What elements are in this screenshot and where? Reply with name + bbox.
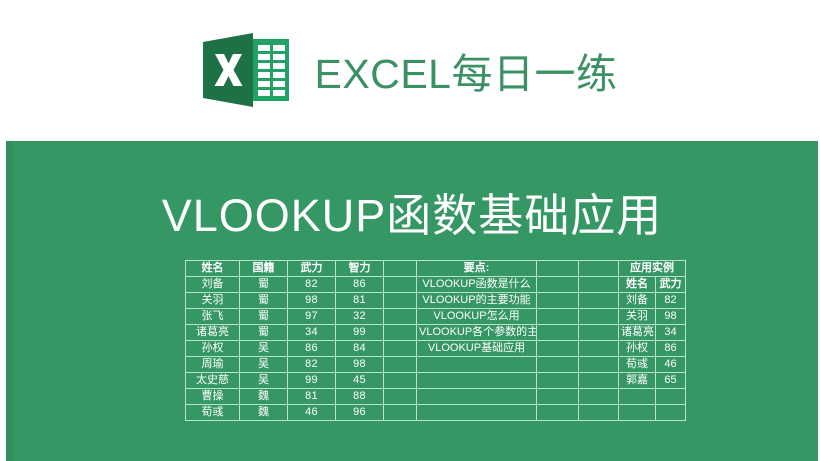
cell-nation: 魏 xyxy=(240,389,288,405)
spacer-cell xyxy=(384,309,417,325)
spacer-cell xyxy=(384,405,417,421)
excel-logo-icon xyxy=(203,33,289,107)
cell-nation: 魏 xyxy=(240,405,288,421)
right-cell-power: 46 xyxy=(656,357,686,373)
blank-cell xyxy=(537,261,579,277)
cell-name: 孙权 xyxy=(186,341,240,357)
content-panel: VLOOKUP函数基础应用 姓名 国籍 武力 智力 xyxy=(6,141,818,461)
slide-header: EXCEL每日一练 xyxy=(0,0,820,140)
blank-cell xyxy=(417,373,537,389)
data-table: 姓名 国籍 武力 智力 要点: 应用实例 刘备 蜀 82 xyxy=(185,260,686,421)
spacer-cell xyxy=(384,325,417,341)
table-row: 姓名 国籍 武力 智力 要点: 应用实例 xyxy=(186,261,686,277)
table-row: 周瑜 吴 82 98 荀彧 46 xyxy=(186,357,686,373)
cell-power: 82 xyxy=(288,277,336,293)
table-row: 荀彧 魏 46 96 xyxy=(186,405,686,421)
spreadsheet-grid: 姓名 国籍 武力 智力 要点: 应用实例 刘备 蜀 82 xyxy=(185,260,685,421)
blank-cell xyxy=(619,389,656,405)
blank-cell xyxy=(537,389,579,405)
table-row: 诸葛亮 蜀 34 99 VLOOKUP各个参数的主要含义 诸葛亮 34 xyxy=(186,325,686,341)
spacer-cell xyxy=(384,277,417,293)
blank-cell xyxy=(417,405,537,421)
cell-power: 82 xyxy=(288,357,336,373)
cell-nation: 蜀 xyxy=(240,277,288,293)
blank-cell xyxy=(537,309,579,325)
spacer-cell xyxy=(579,341,619,357)
spacer-cell xyxy=(579,325,619,341)
spacer-cell xyxy=(384,341,417,357)
right-cell-power: 65 xyxy=(656,373,686,389)
table-row: 刘备 蜀 82 86 VLOOKUP函数是什么 姓名 武力 xyxy=(186,277,686,293)
blank-cell xyxy=(537,325,579,341)
right-cell-power: 34 xyxy=(656,325,686,341)
cell-power: 86 xyxy=(288,341,336,357)
table-row: 太史慈 吴 99 45 郭嘉 65 xyxy=(186,373,686,389)
spacer-cell xyxy=(384,261,417,277)
spacer-cell xyxy=(579,277,619,293)
blank-cell xyxy=(656,405,686,421)
cell-power: 46 xyxy=(288,405,336,421)
spacer-cell xyxy=(579,405,619,421)
right-cell-power: 86 xyxy=(656,341,686,357)
cell-nation: 吴 xyxy=(240,373,288,389)
cell-power: 81 xyxy=(288,389,336,405)
cell-power: 98 xyxy=(288,293,336,309)
right-cell-name: 关羽 xyxy=(619,309,656,325)
cell-int: 88 xyxy=(336,389,384,405)
key-point-item: VLOOKUP的主要功能 xyxy=(417,293,537,309)
spacer-cell xyxy=(579,373,619,389)
blank-cell xyxy=(537,341,579,357)
blank-cell xyxy=(537,373,579,389)
cell-name: 关羽 xyxy=(186,293,240,309)
cell-int: 45 xyxy=(336,373,384,389)
blank-cell xyxy=(417,357,537,373)
right-cell-power: 98 xyxy=(656,309,686,325)
cell-name: 张飞 xyxy=(186,309,240,325)
cell-name: 刘备 xyxy=(186,277,240,293)
cell-power: 99 xyxy=(288,373,336,389)
key-point-item: VLOOKUP基础应用 xyxy=(417,341,537,357)
right-header-power: 武力 xyxy=(656,277,686,293)
cell-int: 32 xyxy=(336,309,384,325)
cell-name: 诸葛亮 xyxy=(186,325,240,341)
cell-name: 太史慈 xyxy=(186,373,240,389)
left-header-nation: 国籍 xyxy=(240,261,288,277)
blank-cell xyxy=(537,277,579,293)
brand-title: EXCEL每日一练 xyxy=(315,40,618,100)
cell-power: 97 xyxy=(288,309,336,325)
cell-name: 荀彧 xyxy=(186,405,240,421)
left-header-int: 智力 xyxy=(336,261,384,277)
cell-int: 81 xyxy=(336,293,384,309)
cell-int: 84 xyxy=(336,341,384,357)
cell-int: 98 xyxy=(336,357,384,373)
cell-int: 96 xyxy=(336,405,384,421)
left-header-power: 武力 xyxy=(288,261,336,277)
key-point-item: VLOOKUP怎么用 xyxy=(417,309,537,325)
right-cell-name: 孙权 xyxy=(619,341,656,357)
left-header-name: 姓名 xyxy=(186,261,240,277)
key-point-item: VLOOKUP函数是什么 xyxy=(417,277,537,293)
blank-cell xyxy=(619,405,656,421)
right-header-name: 姓名 xyxy=(619,277,656,293)
right-cell-name: 郭嘉 xyxy=(619,373,656,389)
cell-nation: 蜀 xyxy=(240,309,288,325)
key-points-header: 要点: xyxy=(417,261,537,277)
spacer-cell xyxy=(384,357,417,373)
spacer-cell xyxy=(579,357,619,373)
slide-canvas: EXCEL每日一练 VLOOKUP函数基础应用 姓名 国籍 武力 xyxy=(0,0,820,461)
spacer-cell xyxy=(579,309,619,325)
spacer-cell xyxy=(384,293,417,309)
blank-cell xyxy=(537,293,579,309)
spacer-cell xyxy=(384,389,417,405)
blank-cell xyxy=(537,357,579,373)
cell-power: 34 xyxy=(288,325,336,341)
spacer-cell xyxy=(579,293,619,309)
spacer-cell xyxy=(579,261,619,277)
key-point-item: VLOOKUP各个参数的主要含义 xyxy=(417,325,537,341)
blank-cell xyxy=(537,405,579,421)
cell-nation: 吴 xyxy=(240,357,288,373)
cell-int: 86 xyxy=(336,277,384,293)
cell-int: 99 xyxy=(336,325,384,341)
right-cell-name: 荀彧 xyxy=(619,357,656,373)
table-row: 孙权 吴 86 84 VLOOKUP基础应用 孙权 86 xyxy=(186,341,686,357)
cell-name: 周瑜 xyxy=(186,357,240,373)
right-cell-name: 刘备 xyxy=(619,293,656,309)
page-title: VLOOKUP函数基础应用 xyxy=(6,179,818,244)
spacer-cell xyxy=(579,389,619,405)
cell-nation: 蜀 xyxy=(240,325,288,341)
cell-nation: 吴 xyxy=(240,341,288,357)
right-cell-power: 82 xyxy=(656,293,686,309)
cell-name: 曹操 xyxy=(186,389,240,405)
table-row: 曹操 魏 81 88 xyxy=(186,389,686,405)
blank-cell xyxy=(417,389,537,405)
spacer-cell xyxy=(384,373,417,389)
right-table-title: 应用实例 xyxy=(619,261,686,277)
table-row: 张飞 蜀 97 32 VLOOKUP怎么用 关羽 98 xyxy=(186,309,686,325)
blank-cell xyxy=(656,389,686,405)
table-row: 关羽 蜀 98 81 VLOOKUP的主要功能 刘备 82 xyxy=(186,293,686,309)
cell-nation: 蜀 xyxy=(240,293,288,309)
right-cell-name: 诸葛亮 xyxy=(619,325,656,341)
